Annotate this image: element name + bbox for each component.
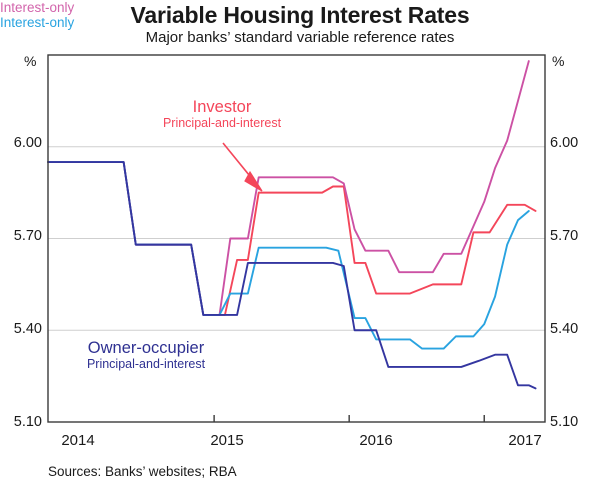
investor-callout-arrow	[223, 143, 262, 191]
annotation-investor: Investor Principal-and-interest	[124, 98, 320, 130]
annotation-investor-title: Investor	[124, 98, 320, 116]
annotation-owner-occupier: Owner-occupier Principal-and-interest	[48, 339, 244, 371]
annotation-owner-title: Owner-occupier	[48, 339, 244, 357]
chart-root: Variable Housing Interest Rates Major ba…	[0, 0, 600, 492]
plot-area	[0, 0, 600, 492]
gridlines	[48, 147, 545, 331]
annotation-owner-sub: Principal-and-interest	[48, 357, 244, 371]
annotation-investor-sub: Principal-and-interest	[124, 116, 320, 130]
chart-sources: Sources: Banks’ websites; RBA	[48, 464, 237, 479]
